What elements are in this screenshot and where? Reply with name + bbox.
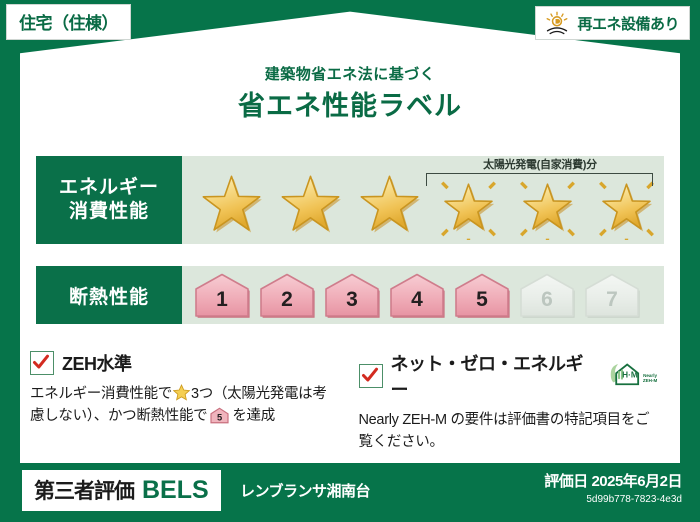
insulation-performance-key: 断熱性能 xyxy=(36,266,182,324)
claim-zeh-body: エネルギー消費性能で3つ（太陽光発電は考慮しない）、かつ断熱性能で5を達成 xyxy=(30,383,335,428)
evaluation-date: 評価日 2025年6月2日 xyxy=(544,470,682,491)
insulation-level-number: 5 xyxy=(476,289,488,319)
claim-zeh-standard: ZEH水準 エネルギー消費性能で3つ（太陽光発電は考慮しない）、かつ断熱性能で5… xyxy=(30,350,347,450)
insulation-level-badge: 3 xyxy=(321,271,383,319)
claim-nze-header: ネット・ゼロ・エネルギー H·M Nearly ZEH-M xyxy=(359,350,664,402)
claim-zeh-title: ZEH水準 xyxy=(62,350,132,376)
solar-bracket xyxy=(426,173,653,186)
claim-net-zero-energy: ネット・ゼロ・エネルギー H·M Nearly ZEH-M Nearly ZEH… xyxy=(347,350,676,450)
label-subtitle: 建築物省エネ法に基づく xyxy=(0,63,700,84)
insulation-level-number: 6 xyxy=(541,289,553,319)
nearly-zeh-m-logo-icon: H·M Nearly ZEH-M xyxy=(608,361,663,391)
inline-star-icon xyxy=(173,384,190,401)
claim-zeh-header: ZEH水準 xyxy=(30,350,335,376)
svg-text:5: 5 xyxy=(217,413,222,423)
insulation-level-badge: 1 xyxy=(191,271,253,319)
evaluation-date-value: 2025年6月2日 xyxy=(591,473,682,490)
claim-zeh-body-pre: エネルギー消費性能で xyxy=(30,386,172,402)
insulation-level-number: 1 xyxy=(216,289,228,319)
insulation-level-badge: 6 xyxy=(516,271,578,319)
insulation-performance-value: 1234567 xyxy=(182,266,664,324)
renewable-equipment-badge: 再エネ設備あり xyxy=(535,6,690,40)
building-type-tag: 住宅（住棟） xyxy=(6,4,131,40)
checkbox-checked-icon xyxy=(30,351,54,375)
energy-star xyxy=(350,168,429,242)
energy-performance-key: エネルギー 消費性能 xyxy=(36,156,182,244)
claims-section: ZEH水準 エネルギー消費性能で3つ（太陽光発電は考慮しない）、かつ断熱性能で5… xyxy=(30,350,675,450)
insulation-level-number: 7 xyxy=(606,289,618,319)
inline-insulation-house-icon: 5 xyxy=(209,407,230,424)
renewable-badge-label: 再エネ設備あり xyxy=(577,13,679,34)
third-party-evaluation-tag: 第三者評価 BELS xyxy=(22,470,221,511)
insulation-level-badge: 5 xyxy=(451,271,513,319)
energy-star xyxy=(271,168,350,242)
energy-performance-label: 住宅（住棟） 再エネ設備あり 建築物省エネ法に基づく 省エネ性能ラベル エネルギ… xyxy=(0,0,700,522)
energy-performance-value: 太陽光発電(自家消費)分 xyxy=(182,156,664,244)
insulation-level-number: 3 xyxy=(346,289,358,319)
insulation-level-badge: 2 xyxy=(256,271,318,319)
claim-nze-title: ネット・ゼロ・エネルギー xyxy=(391,350,597,402)
svg-text:H·M: H·M xyxy=(622,370,638,379)
insulation-key-label: 断熱性能 xyxy=(69,282,149,309)
svg-text:ZEH-M: ZEH-M xyxy=(643,378,658,383)
insulation-level-badge: 4 xyxy=(386,271,448,319)
insulation-level-number: 4 xyxy=(411,289,423,319)
label-footer: 第三者評価 BELS レンブランサ湘南台 評価日 2025年6月2日 5d99b… xyxy=(0,462,700,522)
insulation-level-number: 2 xyxy=(281,289,293,319)
claim-nze-body: Nearly ZEH-M の要件は評価書の特記項目をご覧ください。 xyxy=(359,409,664,454)
evaluation-date-label: 評価日 xyxy=(544,473,588,490)
insulation-level-list: 1234567 xyxy=(182,266,664,324)
evaluation-id: 5d99b778-7823-4e3d xyxy=(544,494,682,505)
energy-key-line2: 消費性能 xyxy=(69,200,149,224)
property-name: レンブランサ湘南台 xyxy=(240,480,370,501)
energy-key-line1: エネルギー xyxy=(59,176,159,200)
label-title: 省エネ性能ラベル xyxy=(0,84,700,123)
energy-star xyxy=(192,168,271,242)
solar-bracket-label: 太陽光発電(自家消費)分 xyxy=(430,156,650,172)
insulation-performance-row: 断熱性能 1234567 xyxy=(36,266,664,324)
evaluation-meta: 評価日 2025年6月2日 5d99b778-7823-4e3d xyxy=(544,470,682,505)
sun-icon xyxy=(544,11,570,35)
insulation-level-badge: 7 xyxy=(581,271,643,319)
energy-performance-row: エネルギー 消費性能 太陽光発電(自家消費)分 xyxy=(36,156,664,244)
third-party-label: 第三者評価 xyxy=(34,475,134,505)
bels-scheme-label: BELS xyxy=(142,476,209,505)
claim-zeh-body-post: を達成 xyxy=(232,408,275,424)
checkbox-checked-icon xyxy=(359,364,383,388)
